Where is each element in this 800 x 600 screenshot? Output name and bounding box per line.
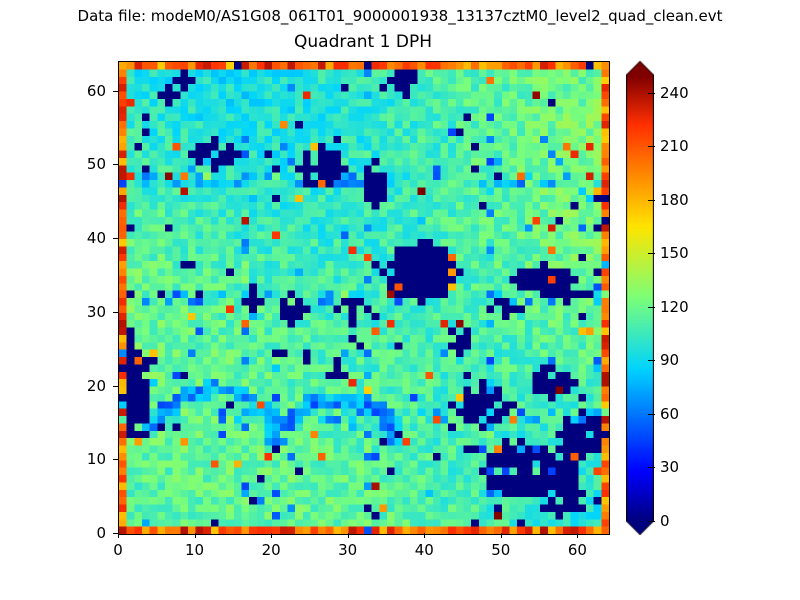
colorbar-tick-label: 210	[660, 137, 689, 155]
x-tick-mark	[424, 533, 425, 538]
colorbar-tick-label: 90	[660, 351, 679, 369]
x-tick-label: 40	[394, 541, 454, 559]
x-tick-label: 30	[318, 541, 378, 559]
y-tick-mark	[113, 459, 118, 460]
x-tick-label: 10	[165, 541, 225, 559]
colorbar-tick-mark	[648, 146, 655, 147]
x-tick-mark	[195, 533, 196, 538]
x-tick-mark	[348, 533, 349, 538]
x-tick-label: 0	[88, 541, 148, 559]
x-tick-mark	[577, 533, 578, 538]
colorbar-tick-mark	[648, 414, 655, 415]
y-tick-label: 60	[46, 82, 106, 100]
colorbar-tick-mark	[648, 307, 655, 308]
colorbar-tick-mark	[648, 521, 655, 522]
x-tick-mark	[501, 533, 502, 538]
colorbar-tick-mark	[648, 253, 655, 254]
x-tick-mark	[271, 533, 272, 538]
y-tick-label: 10	[46, 450, 106, 468]
colorbar-tick-mark	[648, 93, 655, 94]
colorbar-tick-label: 180	[660, 191, 689, 209]
y-tick-label: 20	[46, 377, 106, 395]
y-tick-label: 0	[46, 524, 106, 542]
x-tick-label: 60	[547, 541, 607, 559]
colorbar-tick-label: 30	[660, 458, 679, 476]
colorbar-tick-mark	[648, 200, 655, 201]
colorbar-tick-label: 150	[660, 244, 689, 262]
plot-title: Quadrant 1 DPH	[118, 32, 608, 52]
colorbar-tick-label: 120	[660, 298, 689, 316]
heatmap-axes[interactable]	[118, 61, 610, 535]
y-tick-label: 30	[46, 303, 106, 321]
colorbar-gradient	[626, 61, 654, 535]
colorbar-tick-label: 60	[660, 405, 679, 423]
y-tick-mark	[113, 91, 118, 92]
x-tick-label: 20	[241, 541, 301, 559]
detector-heatmap[interactable]	[119, 62, 609, 534]
colorbar-tick-label: 0	[660, 512, 670, 530]
y-tick-mark	[113, 533, 118, 534]
y-tick-label: 50	[46, 155, 106, 173]
y-tick-label: 40	[46, 229, 106, 247]
y-tick-mark	[113, 164, 118, 165]
figure-canvas: Data file: modeM0/AS1G08_061T01_90000019…	[0, 0, 800, 600]
colorbar-tick-mark	[648, 467, 655, 468]
colorbar[interactable]	[626, 61, 654, 535]
y-tick-mark	[113, 238, 118, 239]
y-tick-mark	[113, 386, 118, 387]
colorbar-tick-mark	[648, 360, 655, 361]
colorbar-tick-label: 240	[660, 84, 689, 102]
x-tick-label: 50	[471, 541, 531, 559]
y-tick-mark	[113, 312, 118, 313]
x-tick-mark	[118, 533, 119, 538]
data-file-label: Data file: modeM0/AS1G08_061T01_90000019…	[0, 7, 800, 25]
